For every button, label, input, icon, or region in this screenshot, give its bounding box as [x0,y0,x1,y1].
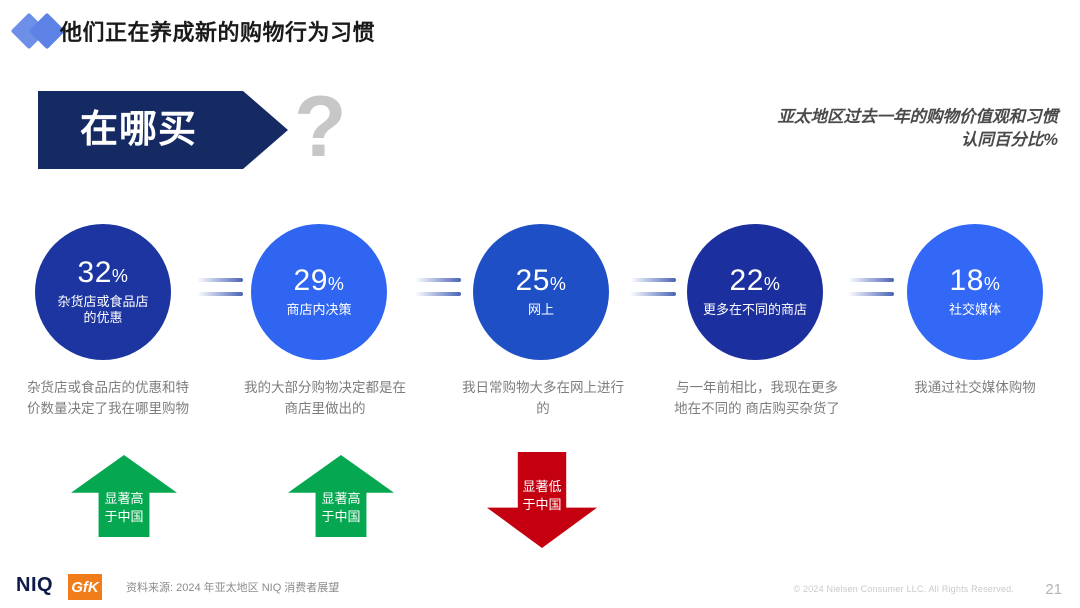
stat-node-3: 25%网上 [473,224,609,360]
survey-caption-line1: 亚太地区过去一年的购物价值观和习惯 [638,106,1058,129]
stat-description-5: 我通过社交媒体购物 [890,378,1060,399]
arrow-label-1: 显著高于中国 [89,490,159,525]
slide-footer: NIQ GfK 资料来源: 2024 年亚太地区 NIQ 消费者展望 © 202… [0,562,1080,608]
stat-unit-4: % [764,274,781,294]
stat-node-1: 32%杂货店或食品店的优惠 [35,224,171,360]
stat-unit-1: % [112,266,129,286]
page-number: 21 [1045,581,1062,598]
stat-circle-row: 32%杂货店或食品店的优惠29%商店内决策25%网上22%更多在不同的商店18%… [0,224,1080,360]
connector-bar-bottom [848,292,894,296]
survey-caption-line2: 认同百分比% [638,129,1058,152]
slide-header: 他们正在养成新的购物行为习惯 [0,0,1080,62]
question-mark-icon: ? [294,84,347,170]
stat-label-5: 社交媒体 [949,302,1001,318]
arrow-label-2: 显著高于中国 [306,490,376,525]
stat-node-4: 22%更多在不同的商店 [687,224,823,360]
stat-circle-2: 29%商店内决策 [251,224,387,360]
survey-caption: 亚太地区过去一年的购物价值观和习惯 认同百分比% [638,106,1058,153]
stat-value-2: 29% [294,266,345,296]
connector-bar-top [848,278,894,282]
stat-unit-5: % [984,274,1001,294]
chevron-shape: 在哪买 [38,91,288,169]
stat-description-1: 杂货店或食品店的优惠和特价数量决定了我在哪里购物 [23,378,193,420]
niq-logo: NIQ [16,574,53,597]
stat-description-2: 我的大部分购物决定都是在商店里做出的 [240,378,410,420]
gfk-logo: GfK [68,574,102,600]
connector-2 [415,278,461,298]
connector-3 [630,278,676,298]
stat-node-2: 29%商店内决策 [251,224,387,360]
stat-label-4: 更多在不同的商店 [703,302,807,318]
stat-unit-2: % [328,274,345,294]
arrow-label-3: 显著低于中国 [507,478,577,513]
connector-bar-bottom [197,292,243,296]
stat-label-2: 商店内决策 [286,302,351,318]
where-to-buy-banner: 在哪买 [38,91,288,169]
connector-bar-top [415,278,461,282]
banner-label: 在哪买 [80,111,197,149]
stat-label-1: 杂货店或食品店的优惠 [41,294,165,327]
stat-value-1: 32% [78,258,129,288]
stat-value-5: 18% [950,266,1001,296]
stat-circle-5: 18%社交媒体 [907,224,1043,360]
stat-node-5: 18%社交媒体 [907,224,1043,360]
connector-1 [197,278,243,298]
slide-root: 他们正在养成新的购物行为习惯 在哪买 ? 亚太地区过去一年的购物价值观和习惯 认… [0,0,1080,608]
stat-circle-1: 32%杂货店或食品店的优惠 [35,224,171,360]
page-title: 他们正在养成新的购物行为习惯 [60,15,375,47]
stat-circle-4: 22%更多在不同的商店 [687,224,823,360]
stat-value-4: 22% [730,266,781,296]
connector-bar-top [630,278,676,282]
source-text: 资料来源: 2024 年亚太地区 NIQ 消费者展望 [126,579,339,595]
connector-4 [848,278,894,298]
stat-description-3: 我日常购物大多在网上进行的 [458,378,628,420]
stat-label-3: 网上 [528,302,554,318]
connector-bar-top [197,278,243,282]
stat-unit-3: % [550,274,567,294]
connector-bar-bottom [630,292,676,296]
copyright-text: © 2024 Nielsen Consumer LLC. All Rights … [793,584,1014,594]
connector-bar-bottom [415,292,461,296]
stat-value-3: 25% [516,266,567,296]
stat-circle-3: 25%网上 [473,224,609,360]
stat-description-4: 与一年前相比，我现在更多地在不同的 商店购买杂货了 [672,378,842,420]
